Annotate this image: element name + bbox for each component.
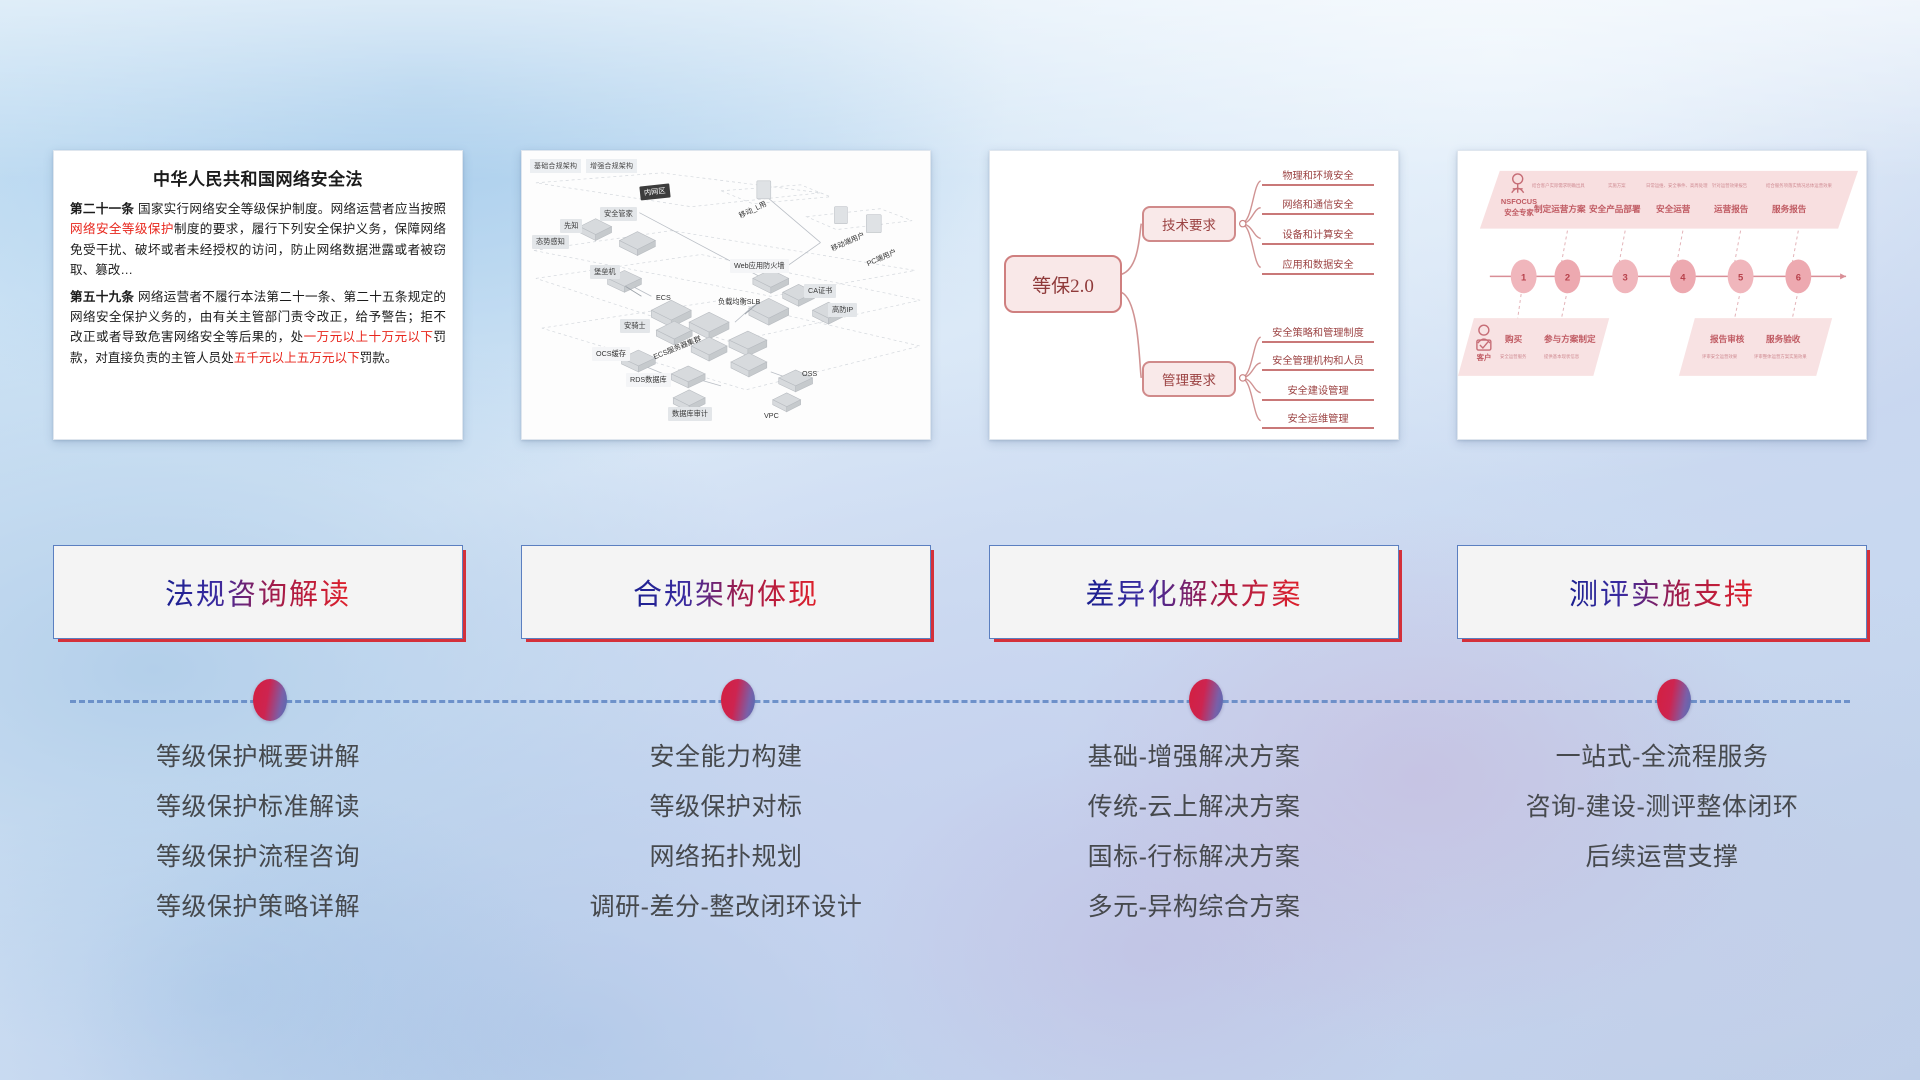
arch-node-waf: Web应用防火墙 bbox=[730, 259, 789, 273]
card-nsfocus-service-flow[interactable]: 1 2 3 4 5 6 bbox=[1457, 150, 1867, 440]
mindmap: 等保2.0 技术要求 管理要求 物理和环境安全 网络和通信安全 设备和计算安全 … bbox=[990, 151, 1398, 439]
nsfocus-top-sub-5: 结合服务项落实情况总体运营效果 bbox=[1766, 183, 1832, 189]
mindmap-branch-management: 管理要求 bbox=[1142, 361, 1236, 397]
list-item: 多元-异构综合方案 bbox=[989, 895, 1399, 945]
list-item: 一站式-全流程服务 bbox=[1457, 745, 1867, 795]
mindmap-leaf-org-personnel: 安全管理机构和人员 bbox=[1262, 352, 1374, 371]
law-paragraph-21: 第二十一条 国家实行网络安全等级保护制度。网络运营者应当按照网络安全等级保护制度… bbox=[70, 199, 446, 281]
timeline-dot-3[interactable] bbox=[1189, 679, 1223, 721]
section-title-row: 法规咨询解读 合规架构体现 差异化解决方案 测评实施支持 bbox=[0, 545, 1920, 645]
arch-node-db-audit: 数据库审计 bbox=[668, 407, 712, 421]
law-card-body: 中华人民共和国网络安全法 第二十一条 国家实行网络安全等级保护制度。网络运营者应… bbox=[54, 151, 462, 384]
timeline-dashed-line bbox=[70, 700, 1850, 703]
svg-text:6: 6 bbox=[1796, 272, 1801, 283]
nsfocus-bottom-sub-1: 安全运营服务 bbox=[1500, 354, 1526, 360]
law-article-21-label: 第二十一条 bbox=[70, 202, 134, 216]
arch-node-ecs: ECS bbox=[652, 291, 675, 304]
nsfocus-top-sub-1: 结合客户实际需求明确出具 bbox=[1532, 183, 1585, 189]
arch-node-ca-cert: CA证书 bbox=[804, 284, 836, 298]
nsfocus-bottom-title-3: 报告审核 bbox=[1710, 333, 1744, 345]
mindmap-leaf-physical-env: 物理和环境安全 bbox=[1262, 167, 1374, 186]
section-title-label-2: 合规架构体现 bbox=[633, 571, 819, 613]
svg-text:4: 4 bbox=[1680, 272, 1686, 283]
nsfocus-flow-shapes: 1 2 3 4 5 6 bbox=[1458, 151, 1866, 440]
law-title: 中华人民共和国网络安全法 bbox=[70, 165, 446, 190]
list-item: 安全能力构建 bbox=[521, 745, 931, 795]
list-item: 后续运营支撑 bbox=[1457, 845, 1867, 895]
section-title-box-4[interactable]: 测评实施支持 bbox=[1457, 545, 1867, 639]
nsfocus-top-sub-4: 针对运营效果报告 bbox=[1712, 183, 1747, 189]
nsfocus-top-title-2: 安全产品部署 bbox=[1589, 203, 1641, 215]
timeline-dot-4[interactable] bbox=[1657, 679, 1691, 721]
nsfocus-bottom-title-4: 服务验收 bbox=[1766, 333, 1800, 345]
image-card-row: 中华人民共和国网络安全法 第二十一条 国家实行网络安全等级保护制度。网络运营者应… bbox=[0, 150, 1920, 440]
detail-column-4: 一站式-全流程服务 咨询-建设-测评整体闭环 后续运营支撑 bbox=[1457, 745, 1867, 985]
nsfocus-bottom-banner-right bbox=[1679, 318, 1832, 376]
arch-node-slb: 负载均衡SLB bbox=[714, 295, 764, 309]
nsfocus-bottom-sub-4: 评审整体运营方案实施效果 bbox=[1754, 354, 1807, 360]
arch-node-xianzhi: 先知 bbox=[560, 219, 582, 233]
mindmap-leaf-device-compute: 设备和计算安全 bbox=[1262, 226, 1374, 245]
detail-column-3: 基础-增强解决方案 传统-云上解决方案 国标-行标解决方案 多元-异构综合方案 bbox=[989, 745, 1399, 985]
arch-node-situation-aware: 态势感知 bbox=[532, 235, 569, 249]
detail-column-2: 安全能力构建 等级保护对标 网络拓扑规划 调研-差分-整改闭环设计 bbox=[521, 745, 931, 985]
nsfocus-top-title-1: 制定运营方案 bbox=[1534, 203, 1586, 215]
nsfocus-top-title-3: 安全运营 bbox=[1656, 203, 1690, 215]
detail-column-row: 等级保护概要讲解 等级保护标准解读 等级保护流程咨询 等级保护策略详解 安全能力… bbox=[0, 745, 1920, 985]
arch-node-bastion-host: 堡垒机 bbox=[590, 265, 620, 279]
card-cybersecurity-law[interactable]: 中华人民共和国网络安全法 第二十一条 国家实行网络安全等级保护制度。网络运营者应… bbox=[53, 150, 463, 440]
card-compliance-architecture[interactable]: 基础合规架构 增强合规架构 bbox=[521, 150, 931, 440]
timeline bbox=[0, 660, 1920, 740]
law-paragraph-59: 第五十九条 网络运营者不履行本法第二十一条、第二十五条规定的网络安全保护义务的，… bbox=[70, 287, 446, 369]
law-article-21-highlight: 网络安全等级保护 bbox=[70, 222, 174, 236]
mindmap-leaf-construction: 安全建设管理 bbox=[1262, 382, 1374, 401]
list-item: 国标-行标解决方案 bbox=[989, 845, 1399, 895]
svg-text:2: 2 bbox=[1565, 272, 1570, 283]
list-item: 咨询-建设-测评整体闭环 bbox=[1457, 795, 1867, 845]
law-article-21-text1: 国家实行网络安全等级保护制度。网络运营者应当按照 bbox=[134, 202, 446, 216]
arch-node-ocs-cache: OCS缓存 bbox=[592, 347, 630, 361]
nsfocus-top-sub-3: 日常运维、安全事件、高周处理 bbox=[1646, 183, 1707, 189]
list-item: 等级保护对标 bbox=[521, 795, 931, 845]
mindmap-leaf-network-comm: 网络和通信安全 bbox=[1262, 196, 1374, 215]
nsfocus-customer-label: 客户 bbox=[1466, 353, 1502, 362]
section-title-box-1[interactable]: 法规咨询解读 bbox=[53, 545, 463, 639]
law-article-59-highlight-1: 一万元以上十万元以下 bbox=[304, 330, 434, 344]
svg-text:1: 1 bbox=[1521, 272, 1526, 283]
arch-node-security-butler: 安全管家 bbox=[600, 207, 637, 221]
timeline-dot-2[interactable] bbox=[721, 679, 755, 721]
nsfocus-bottom-title-2: 参与方案制定 bbox=[1544, 333, 1596, 345]
detail-column-1: 等级保护概要讲解 等级保护标准解读 等级保护流程咨询 等级保护策略详解 bbox=[53, 745, 463, 985]
list-item: 基础-增强解决方案 bbox=[989, 745, 1399, 795]
list-item: 调研-差分-整改闭环设计 bbox=[521, 895, 931, 945]
list-item: 传统-云上解决方案 bbox=[989, 795, 1399, 845]
section-title-box-2[interactable]: 合规架构体现 bbox=[521, 545, 931, 639]
nsfocus-top-sub-2: 实施方案 bbox=[1608, 183, 1626, 189]
nsfocus-top-title-5: 服务报告 bbox=[1772, 203, 1806, 215]
nsfocus-bottom-title-1: 购买 bbox=[1505, 333, 1522, 345]
law-article-59-label: 第五十九条 bbox=[70, 290, 134, 304]
mindmap-branch-technical: 技术要求 bbox=[1142, 206, 1236, 242]
card-dengbao-mindmap[interactable]: 等保2.0 技术要求 管理要求 物理和环境安全 网络和通信安全 设备和计算安全 … bbox=[989, 150, 1399, 440]
svg-text:3: 3 bbox=[1623, 272, 1628, 283]
svg-text:5: 5 bbox=[1738, 272, 1743, 283]
list-item: 等级保护策略详解 bbox=[53, 895, 463, 945]
mindmap-leaf-operations: 安全运维管理 bbox=[1262, 410, 1374, 429]
nsfocus-top-title-4: 运营报告 bbox=[1714, 203, 1748, 215]
arch-node-vpc: VPC bbox=[760, 409, 783, 422]
list-item: 网络拓扑规划 bbox=[521, 845, 931, 895]
arch-node-anti-ddos-ip: 高防IP bbox=[828, 303, 857, 317]
section-title-label-4: 测评实施支持 bbox=[1569, 571, 1755, 613]
nsfocus-bottom-sub-3: 评审安全运营效果 bbox=[1702, 354, 1737, 360]
timeline-dot-1[interactable] bbox=[253, 679, 287, 721]
mindmap-leaf-policy-system: 安全策略和管理制度 bbox=[1262, 324, 1374, 343]
architecture-diagram: 基础合规架构 增强合规架构 bbox=[522, 151, 930, 439]
section-title-box-3[interactable]: 差异化解决方案 bbox=[989, 545, 1399, 639]
mindmap-root-node: 等保2.0 bbox=[1004, 255, 1122, 313]
nsfocus-bottom-sub-2: 提供基本现状信息 bbox=[1544, 354, 1579, 360]
list-item: 等级保护概要讲解 bbox=[53, 745, 463, 795]
arch-node-rds: RDS数据库 bbox=[626, 373, 671, 387]
list-item: 等级保护流程咨询 bbox=[53, 845, 463, 895]
mindmap-leaf-app-data: 应用和数据安全 bbox=[1262, 256, 1374, 275]
section-title-label-3: 差异化解决方案 bbox=[1085, 571, 1302, 613]
list-item: 等级保护标准解读 bbox=[53, 795, 463, 845]
nsfocus-flow-diagram: 1 2 3 4 5 6 bbox=[1458, 151, 1866, 439]
arch-node-oss: OSS bbox=[798, 367, 821, 380]
law-article-59-highlight-2: 五千元以上五万元以下 bbox=[234, 351, 360, 365]
law-article-59-text3: 罚款。 bbox=[360, 351, 398, 365]
arch-node-anqishi: 安骑士 bbox=[620, 319, 650, 333]
section-title-label-1: 法规咨询解读 bbox=[165, 571, 351, 613]
